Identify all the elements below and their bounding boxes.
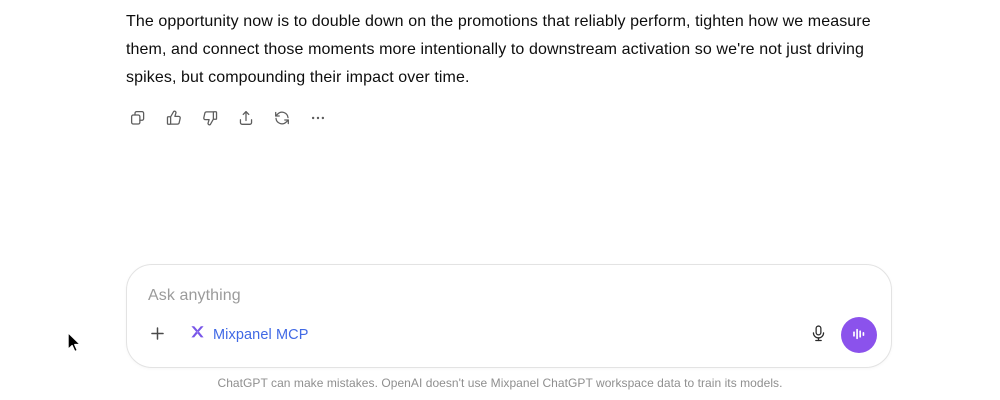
message-action-toolbar [124,104,332,132]
message-body-text: The opportunity now is to double down on… [126,8,884,92]
more-options-button[interactable] [304,104,332,132]
assistant-message: The opportunity now is to double down on… [126,8,884,92]
more-options-icon [309,109,327,127]
dictate-button[interactable] [801,318,835,352]
composer-toolbar: Mixpanel MCP [141,315,877,355]
share-button[interactable] [232,104,260,132]
composer[interactable]: Ask anything Mixpanel MCP [126,264,892,368]
voice-waveform-icon [849,324,869,347]
plus-icon [148,324,167,346]
mixpanel-mcp-label: Mixpanel MCP [213,327,308,343]
share-icon [237,109,255,127]
mixpanel-mcp-chip[interactable]: Mixpanel MCP [183,320,316,350]
copy-icon [129,109,147,127]
voice-mode-button[interactable] [841,317,877,353]
thumbs-up-icon [165,109,183,127]
regenerate-button[interactable] [268,104,296,132]
mixpanel-logo-icon [189,324,206,346]
thumbs-down-icon [201,109,219,127]
mouse-cursor [66,331,84,355]
add-attachment-button[interactable] [141,319,173,351]
thumbs-up-button[interactable] [160,104,188,132]
footer-disclaimer: ChatGPT can make mistakes. OpenAI doesn'… [0,376,1000,390]
regenerate-icon [273,109,291,127]
prompt-input[interactable]: Ask anything [148,283,870,309]
microphone-icon [809,324,828,346]
copy-button[interactable] [124,104,152,132]
composer-input-row[interactable]: Ask anything [148,283,870,309]
thumbs-down-button[interactable] [196,104,224,132]
